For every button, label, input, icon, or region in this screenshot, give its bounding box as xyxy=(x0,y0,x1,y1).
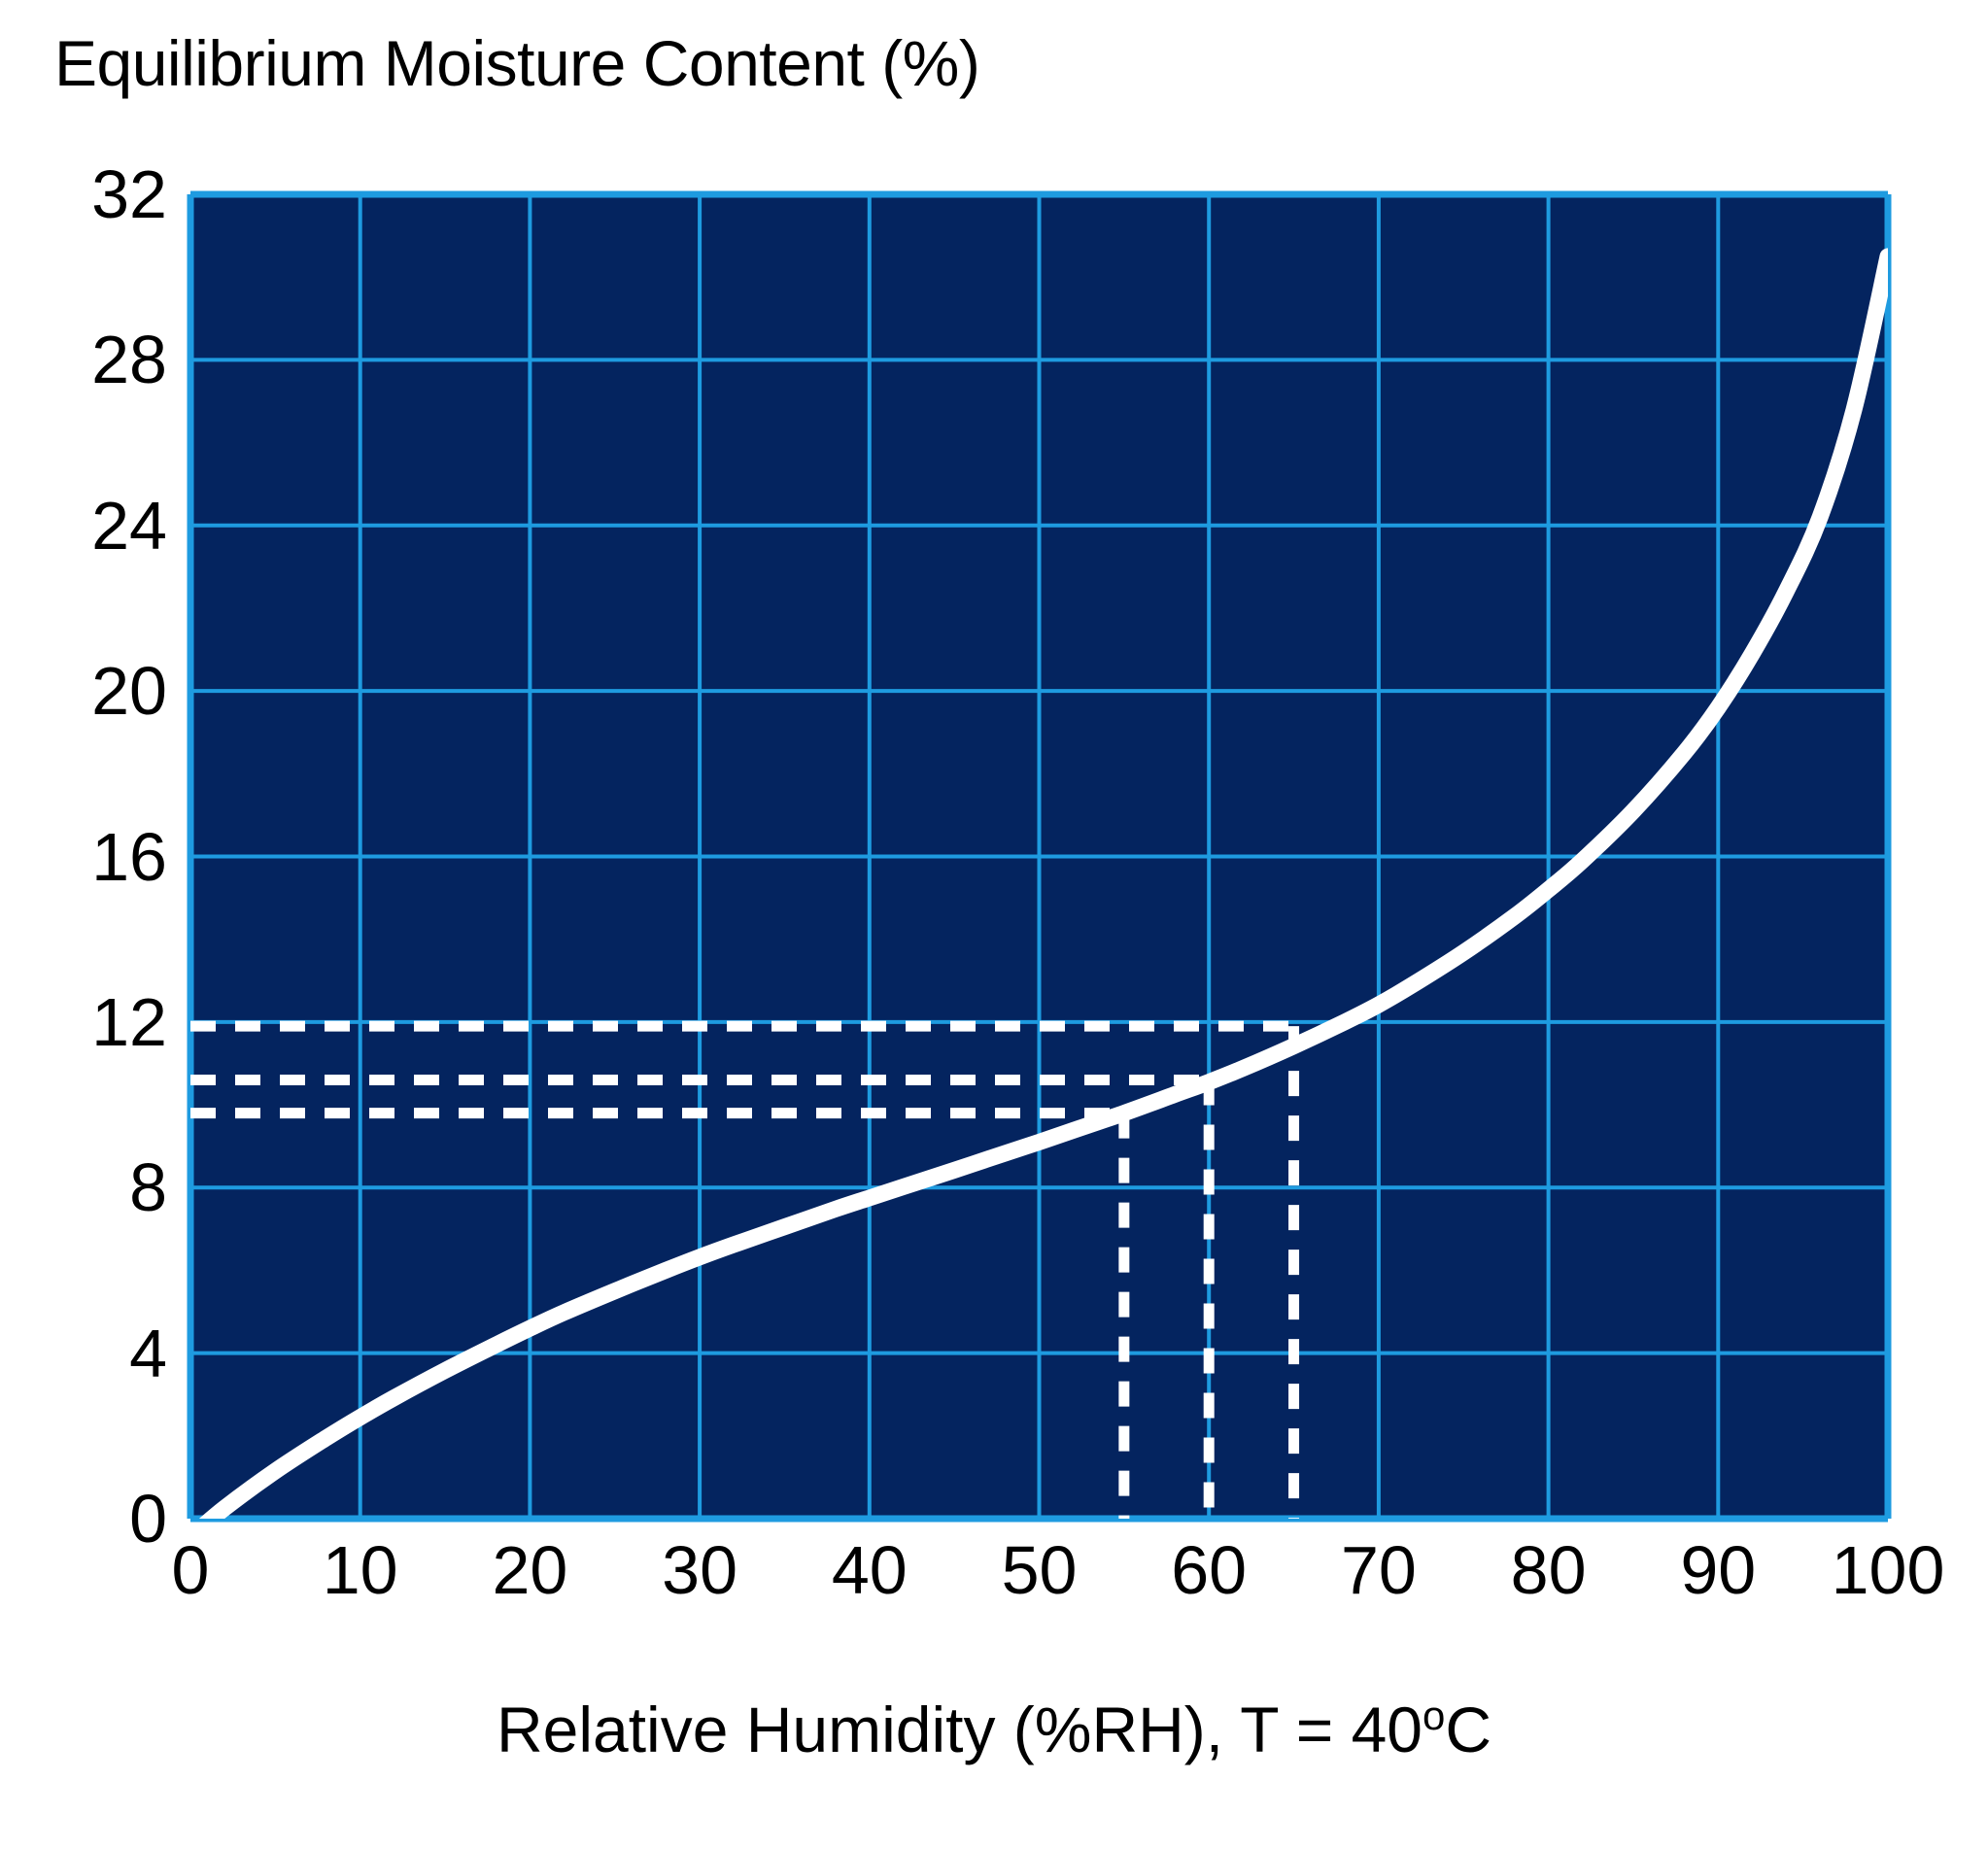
y-axis-tick-20: 20 xyxy=(31,657,167,725)
emc-curve xyxy=(190,194,1888,1519)
y-axis-tick-labels: 048121620242832 xyxy=(19,194,167,1519)
x-axis-title-degree: o xyxy=(1422,1693,1445,1738)
x-axis-tick-10: 10 xyxy=(263,1533,458,1607)
x-axis-tick-labels: 0102030405060708090100 xyxy=(190,1533,1888,1621)
x-axis-tick-90: 90 xyxy=(1621,1533,1815,1607)
chart-title: Equilibrium Moisture Content (%) xyxy=(54,25,979,101)
x-axis-title-main: Relative Humidity (%RH), T = 40 xyxy=(497,1694,1422,1765)
chart-container: Equilibrium Moisture Content (%) 0481216… xyxy=(0,0,1988,1849)
y-axis-tick-32: 32 xyxy=(31,160,167,228)
x-axis-tick-70: 70 xyxy=(1282,1533,1476,1607)
plot-area xyxy=(190,194,1888,1519)
x-axis-tick-0: 0 xyxy=(93,1533,288,1607)
x-axis-tick-100: 100 xyxy=(1791,1533,1985,1607)
x-axis-tick-40: 40 xyxy=(772,1533,967,1607)
x-axis-tick-60: 60 xyxy=(1112,1533,1306,1607)
x-axis-tick-80: 80 xyxy=(1452,1533,1646,1607)
x-axis-tick-30: 30 xyxy=(602,1533,797,1607)
x-axis-tick-20: 20 xyxy=(432,1533,627,1607)
y-axis-tick-24: 24 xyxy=(31,492,167,560)
x-axis-tick-50: 50 xyxy=(943,1533,1137,1607)
x-axis-title: Relative Humidity (%RH), T = 40oC xyxy=(0,1691,1988,1768)
x-axis-title-tail: C xyxy=(1445,1694,1491,1765)
y-axis-tick-12: 12 xyxy=(31,988,167,1056)
y-axis-tick-28: 28 xyxy=(31,325,167,394)
y-axis-tick-8: 8 xyxy=(31,1153,167,1221)
y-axis-tick-16: 16 xyxy=(31,823,167,891)
y-axis-tick-4: 4 xyxy=(31,1319,167,1387)
